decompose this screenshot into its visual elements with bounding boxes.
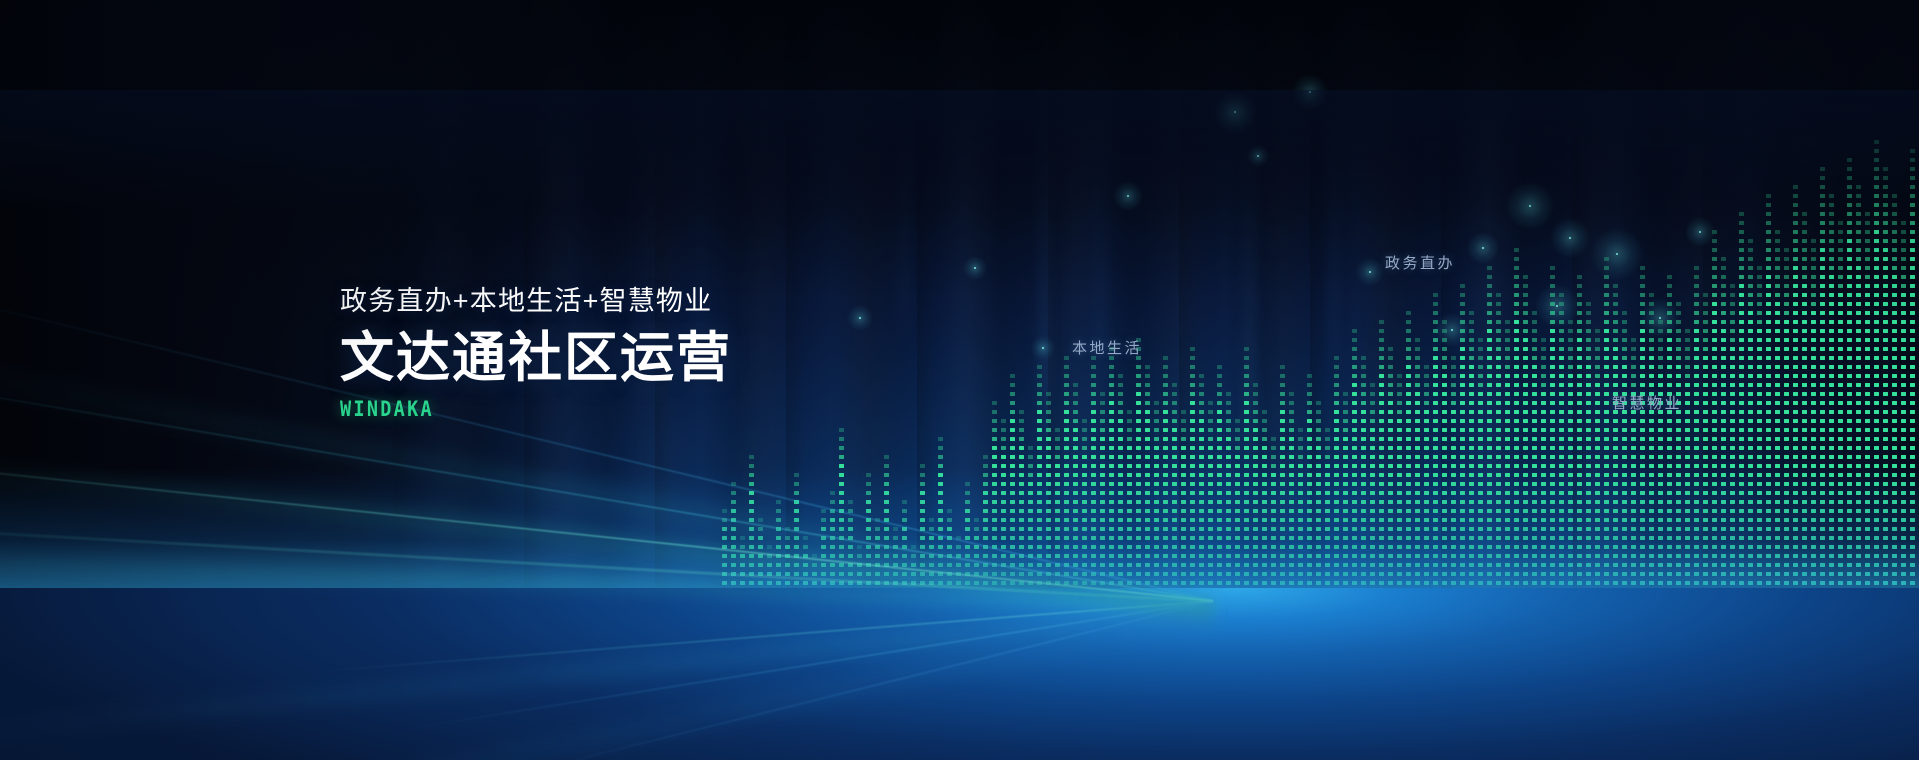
hero-banner: 政务直办本地生活智慧物业 政务直办+本地生活+智慧物业 文达通社区运营 WIND… bbox=[0, 0, 1919, 760]
skyline-bar bbox=[1550, 266, 1555, 608]
floating-label-3: 智慧物业 bbox=[1612, 392, 1682, 413]
brand-name: WINDAKA bbox=[340, 397, 886, 421]
skyline-bar bbox=[1523, 275, 1528, 608]
skyline-bar bbox=[1829, 194, 1834, 608]
skyline-bar bbox=[1487, 266, 1492, 608]
skyline-bar bbox=[1757, 266, 1762, 608]
floating-label-2: 本地生活 bbox=[1072, 337, 1142, 358]
skyline-bar bbox=[1784, 248, 1789, 608]
skyline-bar bbox=[1766, 194, 1771, 608]
skyline-bar bbox=[1604, 257, 1609, 608]
subtitle: 政务直办+本地生活+智慧物业 bbox=[340, 288, 960, 315]
skyline-bar bbox=[1739, 212, 1744, 608]
skyline-bar bbox=[1577, 275, 1582, 608]
skyline-bar bbox=[1640, 266, 1645, 608]
skyline-bar bbox=[1748, 239, 1753, 608]
skyline-bar bbox=[1856, 185, 1861, 608]
skyline-bar bbox=[1667, 275, 1672, 608]
skyline-bar bbox=[1892, 194, 1897, 608]
skyline-bar bbox=[1820, 167, 1825, 608]
skyline-bar bbox=[1883, 167, 1888, 608]
skyline-bar bbox=[1802, 212, 1807, 608]
skyline-bar bbox=[1910, 149, 1915, 608]
headline-block: 政务直办+本地生活+智慧物业 文达通社区运营 WINDAKA bbox=[340, 288, 960, 421]
skyline-bar bbox=[1901, 221, 1906, 608]
skyline-bar bbox=[1694, 266, 1699, 608]
floating-label-1: 政务直办 bbox=[1385, 252, 1455, 273]
skyline-bar bbox=[1793, 185, 1798, 608]
skyline-bar bbox=[1838, 221, 1843, 608]
skyline-bar bbox=[1847, 158, 1852, 608]
skyline-bar bbox=[1775, 230, 1780, 608]
skyline-bar bbox=[1721, 257, 1726, 608]
skyline-bar bbox=[1514, 248, 1519, 608]
skyline-bar bbox=[1874, 140, 1879, 608]
skyline-bar bbox=[1712, 230, 1717, 608]
skyline-bar bbox=[1865, 212, 1870, 608]
page-title: 文达通社区运营 bbox=[340, 329, 960, 387]
skyline-bar bbox=[1811, 239, 1816, 608]
